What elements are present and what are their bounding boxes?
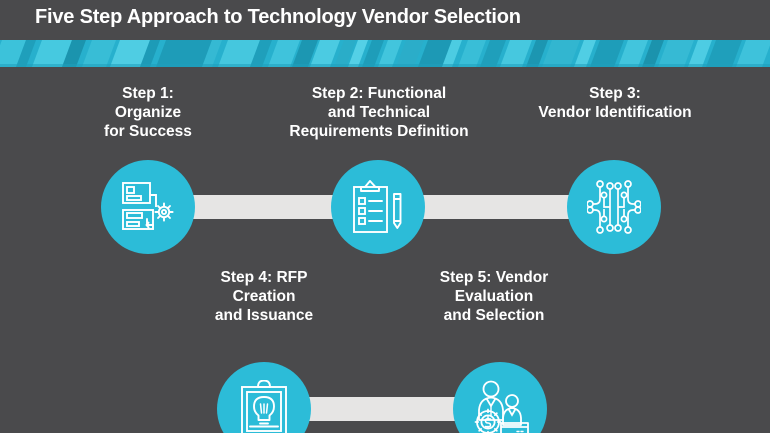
step-1-label: Step 1: Organize for Success: [48, 84, 248, 141]
step-5-circle[interactable]: [453, 362, 547, 433]
page-title: Five Step Approach to Technology Vendor …: [35, 6, 521, 29]
step-1-circle[interactable]: [101, 160, 195, 254]
slide-canvas: Five Step Approach to Technology Vendor …: [0, 0, 770, 433]
step-4-circle[interactable]: [217, 362, 311, 433]
step-3-circle[interactable]: [567, 160, 661, 254]
people-money-desk-icon: [470, 380, 530, 433]
step-2-label: Step 2: Functional and Technical Require…: [268, 84, 490, 141]
clipboard-checklist-pencil-icon: [352, 180, 404, 234]
step-3-label: Step 3: Vendor Identification: [500, 84, 730, 122]
header-bar: Five Step Approach to Technology Vendor …: [0, 0, 770, 40]
step-4-label: Step 4: RFP Creation and Issuance: [165, 268, 363, 325]
documents-gear-icon: [120, 181, 176, 233]
circuit-network-icon: [587, 179, 641, 235]
teal-stripe-band: [0, 40, 770, 67]
clipboard-lightbulb-icon: [240, 380, 288, 433]
step-5-label: Step 5: Vendor Evaluation and Selection: [390, 268, 598, 325]
step-2-circle[interactable]: [331, 160, 425, 254]
stripe-pattern: [0, 40, 770, 67]
